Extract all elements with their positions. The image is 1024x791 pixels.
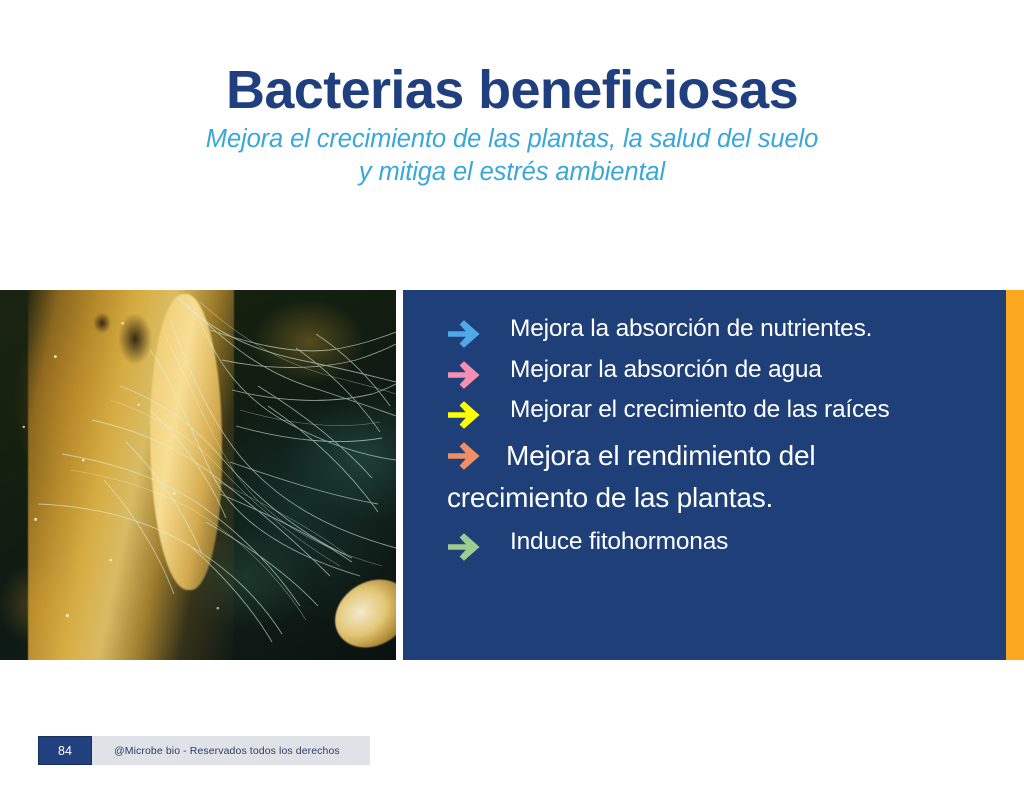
- bullet-list: Mejora la absorción de nutrientes. Mejor…: [403, 314, 1006, 568]
- list-item: Mejorar la absorción de agua: [403, 355, 1006, 386]
- arrow-right-icon: [447, 441, 481, 471]
- subtitle-line-1: Mejora el crecimiento de las plantas, la…: [0, 123, 1024, 156]
- page-title: Bacterias beneficiosas: [0, 62, 1024, 119]
- arrow-right-icon: [447, 400, 481, 430]
- list-item: Mejora el rendimiento del: [403, 436, 1006, 477]
- page-number-badge: 84: [38, 736, 92, 765]
- title-block: Bacterias beneficiosas Mejora el crecimi…: [0, 62, 1024, 188]
- list-item-label: Mejora la absorción de nutrientes.: [510, 314, 872, 345]
- footer: 84 @Microbe bio - Reservados todos los d…: [38, 736, 370, 765]
- list-item-label: Mejorar la absorción de agua: [510, 355, 822, 386]
- list-item-label: Mejora el rendimiento del: [506, 436, 815, 477]
- list-item-wrap-line: crecimiento de las plantas.: [403, 480, 1006, 515]
- arrow-right-icon: [447, 319, 481, 349]
- accent-bar: [1006, 290, 1024, 660]
- page-subtitle: Mejora el crecimiento de las plantas, la…: [0, 123, 1024, 188]
- subtitle-line-2: y mitiga el estrés ambiental: [0, 156, 1024, 189]
- list-item: Mejorar el crecimiento de las raíces: [403, 395, 1006, 426]
- list-item-label: Mejorar el crecimiento de las raíces: [510, 395, 890, 426]
- photo-highlights: [0, 290, 396, 660]
- slide-canvas: Bacterias beneficiosas Mejora el crecimi…: [0, 0, 1024, 791]
- list-item: Induce fitohormonas: [403, 527, 1006, 558]
- list-item-label: Induce fitohormonas: [510, 527, 728, 558]
- microscopy-photo: [0, 290, 396, 660]
- list-item: Mejora la absorción de nutrientes.: [403, 314, 1006, 345]
- arrow-right-icon: [447, 532, 481, 562]
- bullet-panel: Mejora la absorción de nutrientes. Mejor…: [403, 290, 1006, 660]
- arrow-right-icon: [447, 360, 481, 390]
- copyright-note: @Microbe bio - Reservados todos los dere…: [92, 736, 370, 765]
